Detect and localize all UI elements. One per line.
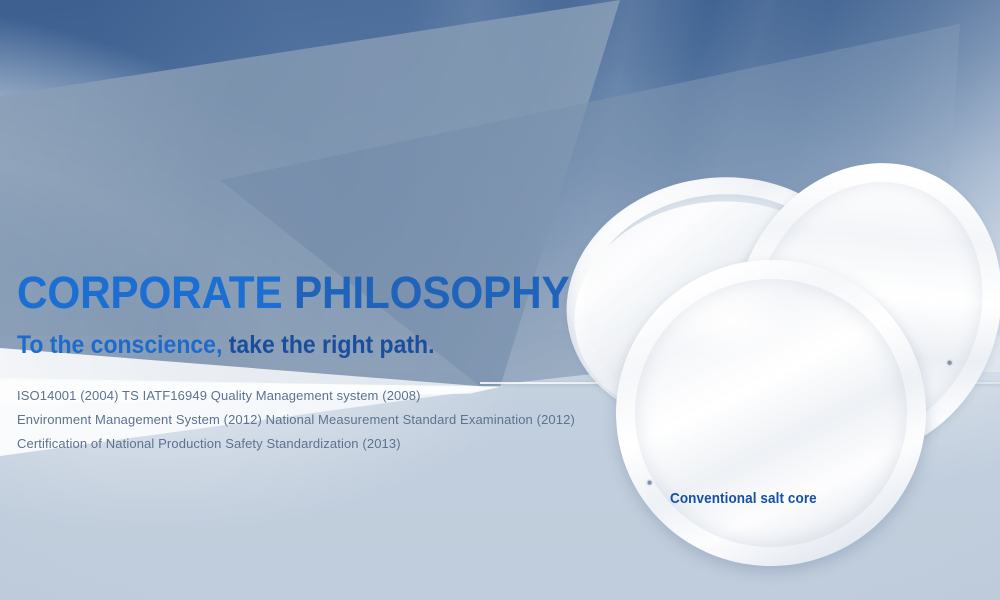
product-caption: Conventional salt core (670, 490, 817, 507)
page-subtitle: To the conscience, take the right path. (17, 330, 587, 360)
certification-item: Environment Management System (2012) Nat… (17, 408, 637, 432)
page-subtitle-part-one: To the conscience, (17, 331, 229, 359)
ring-specular-highlight (664, 282, 799, 361)
page-title-word-one: CORPORATE (17, 267, 282, 318)
certification-list: ISO14001 (2004) TS IATF16949 Quality Man… (17, 384, 637, 456)
page-title: CORPORATE PHILOSOPHY (17, 268, 600, 318)
certification-item: ISO14001 (2004) TS IATF16949 Quality Man… (17, 384, 637, 408)
vent-pinhole-icon (648, 480, 652, 484)
page-subtitle-part-two: take the right path. (229, 331, 435, 359)
vent-pinhole-icon (947, 360, 952, 365)
corporate-philosophy-banner: CORPORATE PHILOSOPHY To the conscience, … (0, 0, 1000, 600)
page-title-word-two: PHILOSOPHY (294, 267, 569, 318)
banner-text-block: CORPORATE PHILOSOPHY To the conscience, … (17, 268, 637, 456)
certification-item: Certification of National Production Saf… (17, 432, 637, 456)
